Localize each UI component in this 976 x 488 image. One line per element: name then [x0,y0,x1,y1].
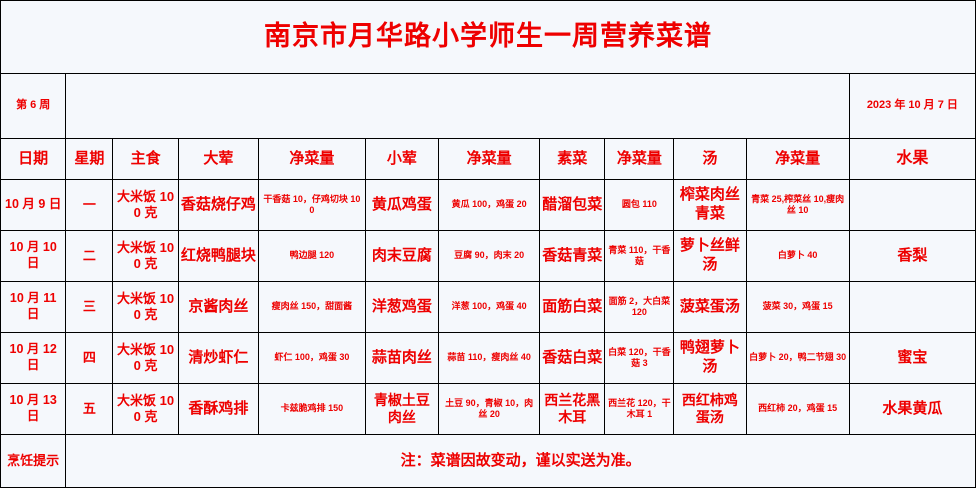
week-number-label: 第 6 周 [1,74,66,139]
cell-small-meat-qty: 土豆 90，青椒 10，肉丝 20 [439,384,540,435]
cell-meat-dish: 红烧鸭腿块 [178,231,258,282]
cell-soup: 榨菜肉丝青菜 [674,180,746,231]
cell-fruit [849,180,975,231]
cell-meat-qty: 鸭边腿 120 [259,231,366,282]
cell-date: 10 月 13 日 [1,384,66,435]
cell-meat-dish: 香酥鸡排 [178,384,258,435]
cell-soup: 鸭翅萝卜汤 [674,333,746,384]
cell-small-meat-dish: 洋葱鸡蛋 [365,282,438,333]
column-header-staple: 主食 [113,139,178,180]
cell-fruit [849,282,975,333]
weekly-menu-table: 南京市月华路小学师生一周营养菜谱 第 6 周 2023 年 10 月 7 日 日… [0,0,976,488]
cell-date: 10 月 10 日 [1,231,66,282]
cell-soup-qty: 西红柿 20，鸡蛋 15 [746,384,849,435]
header-row: 日期 星期 主食 大荤 净菜量 小荤 净菜量 素菜 净菜量 汤 净菜量 水果 [1,139,976,180]
meta-spacer [66,74,849,139]
cell-veg-qty: 面筋 2，大白菜 120 [605,282,674,333]
cell-veg-dish: 香菇青菜 [540,231,605,282]
cell-weekday: 一 [66,180,113,231]
footer-row: 烹饪提示 注：菜谱因故变动，谨以实送为准。 [1,435,976,488]
cell-weekday: 四 [66,333,113,384]
cell-date: 10 月 11 日 [1,282,66,333]
title-row: 南京市月华路小学师生一周营养菜谱 [1,1,976,74]
cell-staple: 大米饭 100 克 [113,282,178,333]
cell-date: 10 月 12 日 [1,333,66,384]
table-row: 10 月 12 日 四 大米饭 100 克 清炒虾仁 虾仁 100，鸡蛋 30 … [1,333,976,384]
cell-small-meat-qty: 蒜苗 110，瘦肉丝 40 [439,333,540,384]
cell-veg-qty: 青菜 110，干香菇 [605,231,674,282]
cell-meat-qty: 瘦肉丝 150，甜面酱 [259,282,366,333]
column-header-soup: 汤 [674,139,746,180]
column-header-date: 日期 [1,139,66,180]
cell-veg-dish: 香菇白菜 [540,333,605,384]
cell-staple: 大米饭 100 克 [113,180,178,231]
table-row: 10 月 11 日 三 大米饭 100 克 京酱肉丝 瘦肉丝 150，甜面酱 洋… [1,282,976,333]
menu-sheet: 南京市月华路小学师生一周营养菜谱 第 6 周 2023 年 10 月 7 日 日… [0,0,976,479]
column-header-veg-dish: 素菜 [540,139,605,180]
cell-small-meat-dish: 肉末豆腐 [365,231,438,282]
cell-small-meat-qty: 黄瓜 100，鸡蛋 20 [439,180,540,231]
cell-meat-qty: 卡兹脆鸡排 150 [259,384,366,435]
cooking-tip-label: 烹饪提示 [1,435,66,488]
cell-veg-dish: 西兰花黑木耳 [540,384,605,435]
cell-soup-qty: 白萝卜 20，鸭二节翅 30 [746,333,849,384]
cell-weekday: 二 [66,231,113,282]
cell-staple: 大米饭 100 克 [113,384,178,435]
cell-meat-dish: 京酱肉丝 [178,282,258,333]
cell-staple: 大米饭 100 克 [113,333,178,384]
cell-meat-qty: 干香菇 10，仔鸡切块 100 [259,180,366,231]
column-header-meat-dish: 大荤 [178,139,258,180]
table-row: 10 月 10 日 二 大米饭 100 克 红烧鸭腿块 鸭边腿 120 肉末豆腐… [1,231,976,282]
cell-fruit: 水果黄瓜 [849,384,975,435]
column-header-weekday: 星期 [66,139,113,180]
cell-fruit: 蜜宝 [849,333,975,384]
cell-small-meat-dish: 黄瓜鸡蛋 [365,180,438,231]
cell-soup: 菠菜蛋汤 [674,282,746,333]
column-header-fruit: 水果 [849,139,975,180]
cell-soup-qty: 青菜 25,榨菜丝 10,瘦肉丝 10 [746,180,849,231]
column-header-small-meat-dish: 小荤 [365,139,438,180]
cell-veg-dish: 醋溜包菜 [540,180,605,231]
cell-meat-dish: 香菇烧仔鸡 [178,180,258,231]
cell-veg-dish: 面筋白菜 [540,282,605,333]
column-header-small-meat-qty: 净菜量 [439,139,540,180]
cell-soup: 西红柿鸡蛋汤 [674,384,746,435]
cell-weekday: 三 [66,282,113,333]
cell-soup-qty: 菠菜 30，鸡蛋 15 [746,282,849,333]
cell-soup-qty: 白萝卜 40 [746,231,849,282]
table-row: 10 月 13 日 五 大米饭 100 克 香酥鸡排 卡兹脆鸡排 150 青椒土… [1,384,976,435]
cell-meat-dish: 清炒虾仁 [178,333,258,384]
table-row: 10 月 9 日 一 大米饭 100 克 香菇烧仔鸡 干香菇 10，仔鸡切块 1… [1,180,976,231]
meta-row: 第 6 周 2023 年 10 月 7 日 [1,74,976,139]
cell-small-meat-qty: 洋葱 100，鸡蛋 40 [439,282,540,333]
cell-fruit: 香梨 [849,231,975,282]
column-header-meat-qty: 净菜量 [259,139,366,180]
cell-small-meat-dish: 青椒土豆肉丝 [365,384,438,435]
column-header-veg-qty: 净菜量 [605,139,674,180]
cell-small-meat-dish: 蒜苗肉丝 [365,333,438,384]
cell-staple: 大米饭 100 克 [113,231,178,282]
cell-veg-qty: 白菜 120，干香菇 3 [605,333,674,384]
cell-veg-qty: 西兰花 120，干木耳 1 [605,384,674,435]
cooking-tip-note: 注：菜谱因故变动，谨以实送为准。 [66,435,976,488]
cell-small-meat-qty: 豆腐 90，肉末 20 [439,231,540,282]
date-stamp: 2023 年 10 月 7 日 [849,74,975,139]
page-title: 南京市月华路小学师生一周营养菜谱 [1,1,976,74]
cell-veg-qty: 圆包 110 [605,180,674,231]
column-header-soup-qty: 净菜量 [746,139,849,180]
cell-meat-qty: 虾仁 100，鸡蛋 30 [259,333,366,384]
cell-date: 10 月 9 日 [1,180,66,231]
cell-soup: 萝卜丝鲜汤 [674,231,746,282]
cell-weekday: 五 [66,384,113,435]
